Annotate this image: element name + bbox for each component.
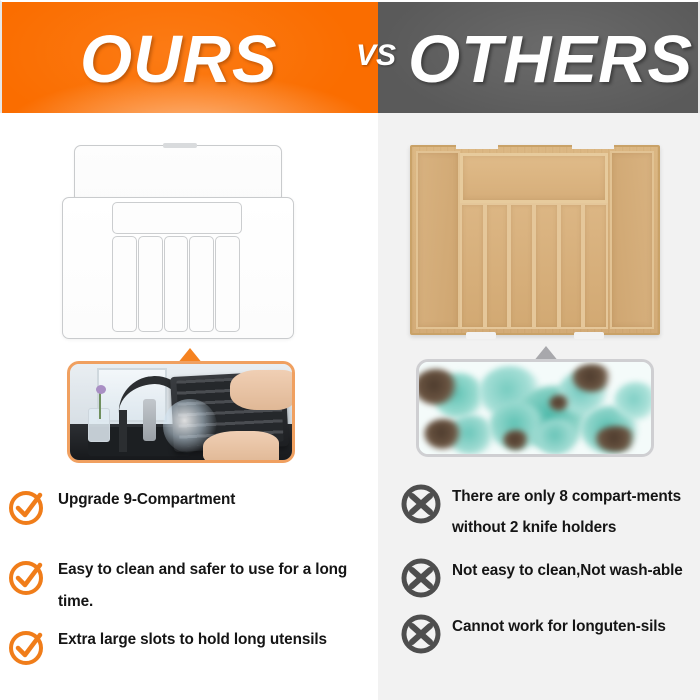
sink-scene	[70, 364, 292, 460]
mold-dark-patch	[503, 430, 529, 450]
inset-photo-mold	[416, 359, 654, 457]
organizer-slot	[112, 236, 137, 332]
mold-dark-patch	[549, 395, 569, 411]
product-image-bamboo-organizer	[410, 145, 660, 335]
x-circle-icon	[400, 557, 442, 599]
hand-shape	[203, 431, 278, 463]
mold-colony	[614, 382, 654, 420]
list-item-label: Upgrade 9-Compartment	[58, 484, 235, 516]
list-item-label: Not easy to clean,Not wash-able	[452, 555, 683, 586]
mold-dark-patch	[424, 419, 462, 449]
bamboo-slot	[485, 203, 510, 329]
check-circle-icon	[6, 556, 48, 598]
tray-notch	[466, 332, 496, 339]
organizer-tab	[163, 143, 197, 148]
mold-dark-patch	[595, 426, 637, 452]
bamboo-slot-group	[460, 203, 608, 329]
list-item: Cannot work for longuten-sils	[400, 611, 696, 655]
right-comparison-panel: There are only 8 compart-ments without 2…	[378, 113, 700, 700]
bamboo-slot	[534, 203, 559, 329]
mold-scene	[419, 362, 651, 454]
bamboo-slot	[509, 203, 534, 329]
list-item-label: Cannot work for longuten-sils	[452, 611, 666, 642]
list-item: Easy to clean and safer to use for a lon…	[6, 554, 374, 618]
left-benefits-list: Upgrade 9-Compartment Easy to clean and …	[6, 484, 374, 678]
header-left-panel: OURS	[0, 0, 378, 113]
organizer-slot-group	[112, 236, 240, 332]
soap-dispenser	[143, 399, 156, 441]
inset-photo-sink-washing	[67, 361, 295, 463]
tray-lip	[572, 141, 614, 149]
tray-lip	[456, 141, 498, 149]
check-circle-icon	[6, 626, 48, 668]
organizer-main-body	[62, 197, 294, 339]
x-circle-icon	[400, 613, 442, 655]
organizer-slot	[189, 236, 214, 332]
bamboo-side-compartment	[610, 151, 654, 329]
list-item: Upgrade 9-Compartment	[6, 484, 374, 528]
list-item: Extra large slots to hold long utensils	[6, 624, 374, 668]
bamboo-slot	[460, 203, 485, 329]
organizer-expandable-section	[74, 145, 282, 203]
bamboo-wide-compartment	[460, 153, 608, 203]
left-comparison-panel: Upgrade 9-Compartment Easy to clean and …	[0, 113, 378, 700]
versus-label: VS	[356, 39, 396, 73]
header-banner: OURS OTHERS VS	[0, 0, 700, 113]
bamboo-slot	[559, 203, 584, 329]
x-circle-icon	[400, 483, 442, 525]
list-item-label: There are only 8 compart-ments without 2…	[452, 481, 696, 543]
bamboo-slot	[583, 203, 608, 329]
hand-shape	[230, 370, 295, 410]
mold-dark-patch	[572, 364, 612, 392]
organizer-wide-compartment	[112, 202, 242, 234]
bamboo-side-compartment	[416, 151, 460, 329]
page-title-ours: OURS	[80, 12, 278, 107]
page-title-others: OTHERS	[408, 12, 693, 107]
mold-colony	[535, 419, 579, 455]
organizer-slot	[215, 236, 240, 332]
list-item: There are only 8 compart-ments without 2…	[400, 481, 696, 543]
right-drawbacks-list: There are only 8 compart-ments without 2…	[400, 481, 696, 665]
organizer-slot	[138, 236, 163, 332]
header-right-panel: OTHERS	[378, 0, 700, 113]
list-item: Not easy to clean,Not wash-able	[400, 555, 696, 599]
list-item-label: Easy to clean and safer to use for a lon…	[58, 554, 374, 618]
faucet-stem	[119, 410, 127, 452]
organizer-slot	[164, 236, 189, 332]
flower-icon	[96, 385, 106, 394]
tray-notch	[574, 332, 604, 339]
check-circle-icon	[6, 486, 48, 528]
product-image-white-organizer	[62, 145, 292, 337]
comparison-infographic: OURS OTHERS VS	[0, 0, 700, 700]
list-item-label: Extra large slots to hold long utensils	[58, 624, 327, 656]
